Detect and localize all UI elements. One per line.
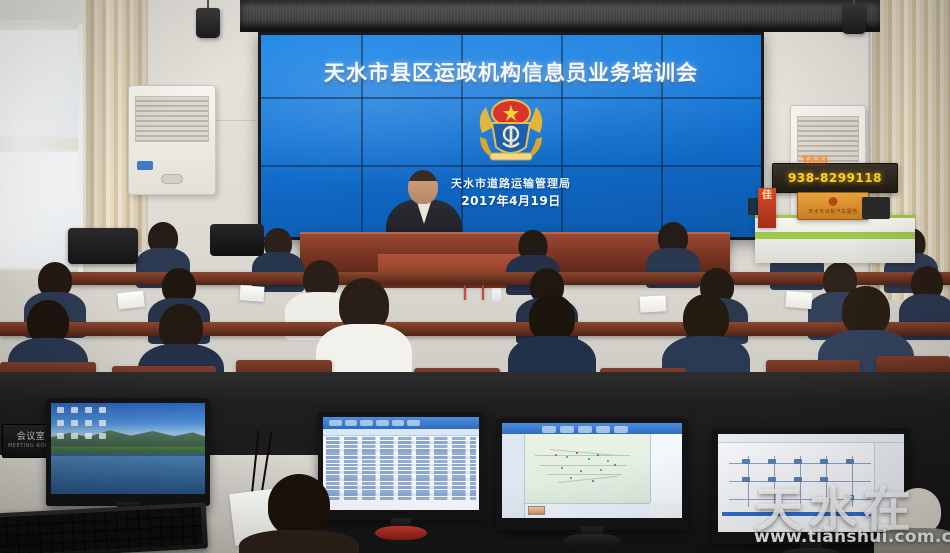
monitor-base <box>781 548 841 553</box>
monitor-desktop[interactable] <box>46 398 210 506</box>
window-upper <box>0 28 82 138</box>
app-toolbar[interactable] <box>323 429 479 436</box>
videowall-date: 2017年4月19日 <box>261 192 761 209</box>
taxi-led-sign: 938-8299118 <box>772 163 898 193</box>
video-wall-display[interactable]: 天水市县区运政机构信息员业务培训会 天水市道路运输管理局 2017年4月19日 <box>258 32 764 240</box>
driver-photo <box>528 506 545 516</box>
ceiling-led-display <box>240 0 880 32</box>
transport-administration-emblem <box>470 93 552 165</box>
videowall-bezel <box>261 165 761 167</box>
map-canvas[interactable] <box>525 434 649 502</box>
videowall-organization: 天水市道路运输管理局 <box>261 175 761 191</box>
ac-control-panel[interactable] <box>161 174 183 184</box>
ac-grill-icon <box>135 96 209 142</box>
vehicle-list-panel[interactable] <box>650 434 682 502</box>
conference-room-scene: 天水市县区运政机构信息员业务培训会 天水市道路运输管理局 2017年4月19日 <box>0 0 950 553</box>
app-titlebar <box>718 434 904 443</box>
side-banner: 佳 <box>758 188 776 228</box>
watermark-url: www.tianshui.com.cn <box>754 527 950 547</box>
service-counter <box>755 215 915 263</box>
desktop-icons[interactable] <box>57 407 131 434</box>
counter-monitor <box>862 197 890 219</box>
monitor-base <box>563 534 621 548</box>
presenter-head <box>408 170 438 204</box>
map-tree-panel[interactable] <box>502 434 525 518</box>
handout-paper <box>240 285 265 302</box>
wall-speaker-right <box>842 4 866 34</box>
wall-speaker-left <box>196 8 220 38</box>
wallpaper-lake <box>51 456 205 494</box>
app-titlebar <box>323 417 479 429</box>
taxi-phone-number: 938-8299118 <box>788 171 882 185</box>
videowall-title: 天水市县区运政机构信息员业务培训会 <box>261 57 761 87</box>
monitor-gps-map[interactable] <box>496 418 688 530</box>
handout-paper <box>785 291 812 309</box>
handout-paper <box>640 295 667 312</box>
honor-plaque: 天水市出租汽车服务 <box>797 192 869 220</box>
taxi-label: TAXI <box>802 156 829 166</box>
monitor-base <box>375 526 427 540</box>
plaque-text: 天水市出租汽车服务 <box>798 208 868 215</box>
foreground-attendee <box>244 474 354 553</box>
counter-accent-band <box>755 232 915 239</box>
ac-badge <box>137 161 153 170</box>
plaque-seal-icon <box>829 197 838 206</box>
briefcase <box>68 228 138 264</box>
briefcase <box>210 224 264 256</box>
water-cup <box>492 288 501 301</box>
air-conditioner-left <box>128 85 216 195</box>
map-detail-panel[interactable] <box>525 503 649 518</box>
gps-monitoring-app[interactable] <box>502 423 682 518</box>
